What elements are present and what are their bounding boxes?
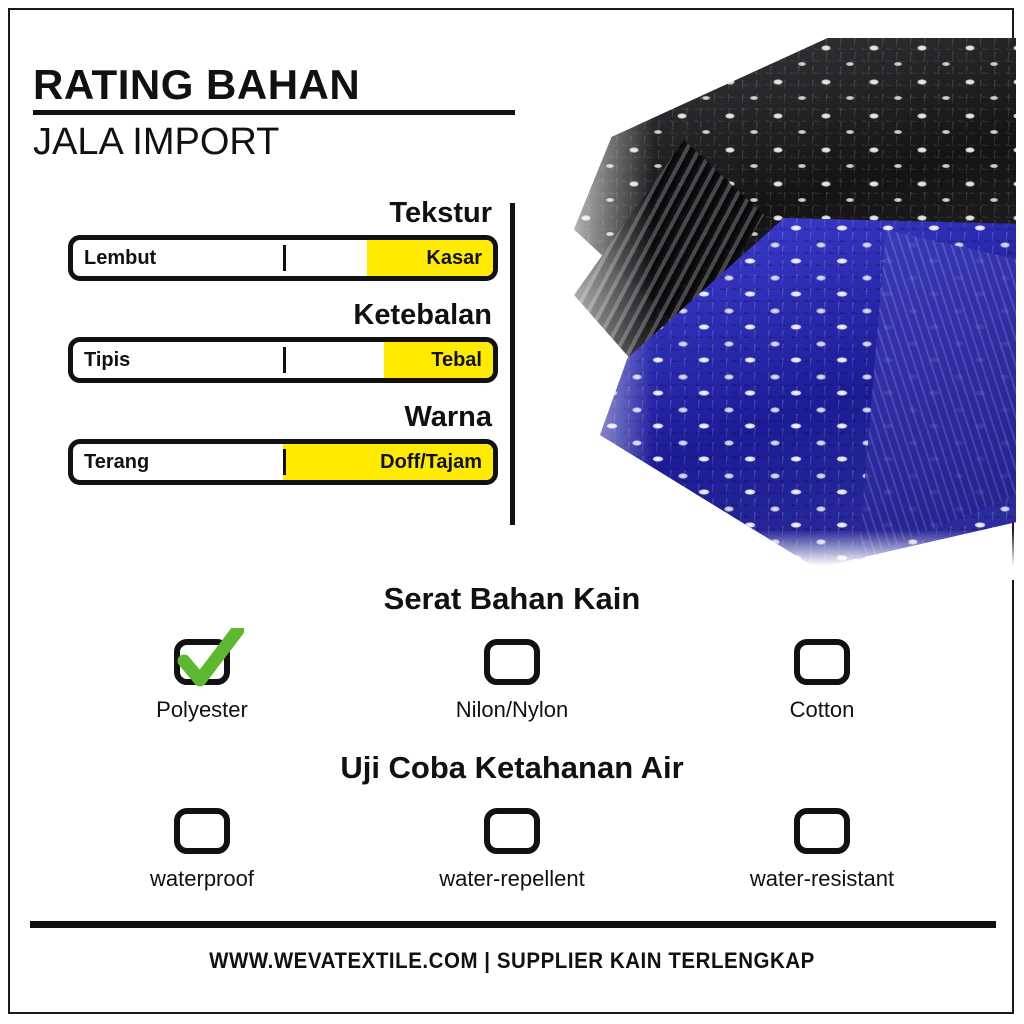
- rating-bar-warna[interactable]: Terang Doff/Tajam: [68, 439, 498, 485]
- rating-tick: [283, 245, 286, 271]
- fiber-option-cotton[interactable]: Cotton: [737, 639, 907, 723]
- fiber-section: Serat Bahan Kain Polyester Nilon/Nylon C…: [0, 581, 1024, 723]
- rating-right-label: Doff/Tajam: [380, 444, 482, 480]
- fiber-option-row: Polyester Nilon/Nylon Cotton: [0, 639, 1024, 723]
- rating-tick: [283, 347, 286, 373]
- water-option-label: water-repellent: [439, 866, 585, 892]
- checkbox-cotton[interactable]: [794, 639, 850, 685]
- water-option-label: water-resistant: [750, 866, 894, 892]
- footer-text: WWW.WEVATEXTILE.COM | SUPPLIER KAIN TERL…: [36, 948, 988, 974]
- fiber-option-nylon[interactable]: Nilon/Nylon: [427, 639, 597, 723]
- fiber-option-polyester[interactable]: Polyester: [117, 639, 287, 723]
- rating-tick: [283, 449, 286, 475]
- rating-right-label: Kasar: [426, 240, 482, 276]
- water-option-label: waterproof: [150, 866, 254, 892]
- checkbox-water-repellent[interactable]: [484, 808, 540, 854]
- checkbox-polyester[interactable]: [174, 639, 230, 685]
- rating-bar-tekstur[interactable]: Lembut Kasar: [68, 235, 498, 281]
- footer-divider: [30, 921, 996, 928]
- fabric-photo: [534, 20, 1016, 580]
- page-title: RATING BAHAN: [33, 62, 533, 108]
- photo-bottom-fade: [534, 530, 1016, 580]
- infographic-card: RATING BAHAN JALA IMPORT Tekstur Lembut …: [0, 0, 1024, 1024]
- header: RATING BAHAN JALA IMPORT: [33, 62, 533, 166]
- rating-right-label: Tebal: [431, 342, 482, 378]
- fiber-option-label: Nilon/Nylon: [456, 697, 569, 723]
- rating-bar-ketebalan[interactable]: Tipis Tebal: [68, 337, 498, 383]
- checkmark-icon: [176, 628, 244, 690]
- page-subtitle: JALA IMPORT: [33, 118, 533, 166]
- water-option-water-repellent[interactable]: water-repellent: [427, 808, 597, 892]
- photo-left-fade: [534, 20, 654, 580]
- rating-heading: Ketebalan: [68, 298, 498, 332]
- water-option-row: waterproof water-repellent water-resista…: [0, 808, 1024, 892]
- water-option-waterproof[interactable]: waterproof: [117, 808, 287, 892]
- rating-ketebalan: Ketebalan Tipis Tebal: [68, 298, 498, 383]
- rating-left-label: Lembut: [84, 240, 156, 276]
- spacer: [68, 383, 498, 400]
- fiber-option-label: Polyester: [156, 697, 248, 723]
- water-option-water-resistant[interactable]: water-resistant: [737, 808, 907, 892]
- checkbox-nylon[interactable]: [484, 639, 540, 685]
- fiber-option-label: Cotton: [790, 697, 855, 723]
- rating-heading: Tekstur: [68, 196, 498, 230]
- rating-left-label: Tipis: [84, 342, 130, 378]
- spacer: [68, 281, 498, 298]
- water-section: Uji Coba Ketahanan Air waterproof water-…: [0, 750, 1024, 892]
- rating-tekstur: Tekstur Lembut Kasar: [68, 196, 498, 281]
- fiber-section-title: Serat Bahan Kain: [0, 581, 1024, 617]
- rating-heading: Warna: [68, 400, 498, 434]
- water-section-title: Uji Coba Ketahanan Air: [0, 750, 1024, 786]
- rating-left-label: Terang: [84, 444, 149, 480]
- checkbox-water-resistant[interactable]: [794, 808, 850, 854]
- rating-bars-group: Tekstur Lembut Kasar Ketebalan Tipis Teb…: [68, 196, 498, 485]
- title-divider: [33, 110, 515, 115]
- checkbox-waterproof[interactable]: [174, 808, 230, 854]
- vertical-divider: [510, 203, 515, 525]
- rating-warna: Warna Terang Doff/Tajam: [68, 400, 498, 485]
